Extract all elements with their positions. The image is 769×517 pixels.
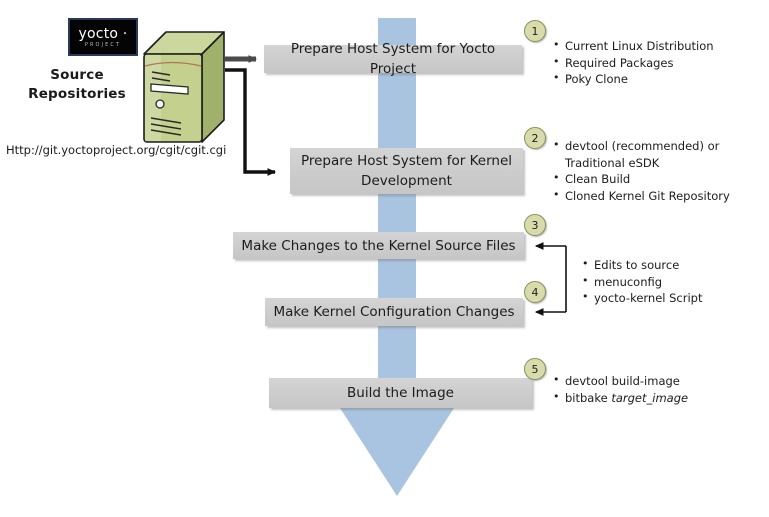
step-number-1: 1 (524, 20, 546, 42)
list-item: devtool (recommended) or Traditional eSD… (553, 138, 730, 171)
list-item: Current Linux Distribution (553, 38, 714, 55)
step-number-3: 3 (524, 214, 546, 236)
steps-3-4-bullet-list: Edits to source menuconfig yocto-kernel … (582, 257, 703, 307)
list-item: bitbake target_image (553, 390, 688, 407)
server-icon (136, 28, 228, 148)
logo-subtext: PROJECT (85, 43, 121, 48)
step-1-bullet-list: Current Linux Distribution Required Pack… (553, 38, 714, 88)
yocto-project-logo: yocto · PROJECT (68, 18, 138, 56)
process-box-prepare-host-yocto[interactable]: Prepare Host System for Yocto Project (264, 45, 522, 73)
source-label-line-2: Repositories (14, 85, 140, 104)
list-item: menuconfig (582, 274, 703, 291)
step-number-2: 2 (524, 127, 546, 149)
process-box-make-kernel-config-changes[interactable]: Make Kernel Configuration Changes (265, 298, 523, 326)
source-repositories-url: Http://git.yoctoproject.org/cgit/cgit.cg… (6, 143, 236, 157)
list-item-emphasis: target_image (611, 391, 688, 405)
list-item: Required Packages (553, 55, 714, 72)
list-item-line-1: devtool (recommended) or (565, 138, 730, 155)
list-item: Edits to source (582, 257, 703, 274)
step-2-bullet-list: devtool (recommended) or Traditional eSD… (553, 138, 730, 204)
diagram-canvas: yocto · PROJECT Source Repositories Http… (0, 0, 769, 517)
step-5-bullet-list: devtool build-image bitbake target_image (553, 373, 688, 406)
list-item-line-2: Traditional eSDK (565, 155, 730, 172)
logo-wordmark: yocto · (79, 27, 128, 41)
source-repositories-label: Source Repositories (14, 66, 140, 104)
step-number-4: 4 (524, 281, 546, 303)
list-item: devtool build-image (553, 373, 688, 390)
list-item-prefix: bitbake (565, 391, 611, 405)
process-box-build-image[interactable]: Build the Image (269, 378, 532, 408)
process-box-make-kernel-source-changes[interactable]: Make Changes to the Kernel Source Files (233, 232, 524, 259)
step-number-5: 5 (524, 358, 546, 380)
list-item: yocto-kernel Script (582, 290, 703, 307)
process-box-prepare-host-kernel[interactable]: Prepare Host System for Kernel Developme… (290, 148, 523, 194)
list-item: Clean Build (553, 171, 730, 188)
list-item: Poky Clone (553, 71, 714, 88)
list-item: Cloned Kernel Git Repository (553, 188, 730, 205)
source-label-line-1: Source (14, 66, 140, 85)
